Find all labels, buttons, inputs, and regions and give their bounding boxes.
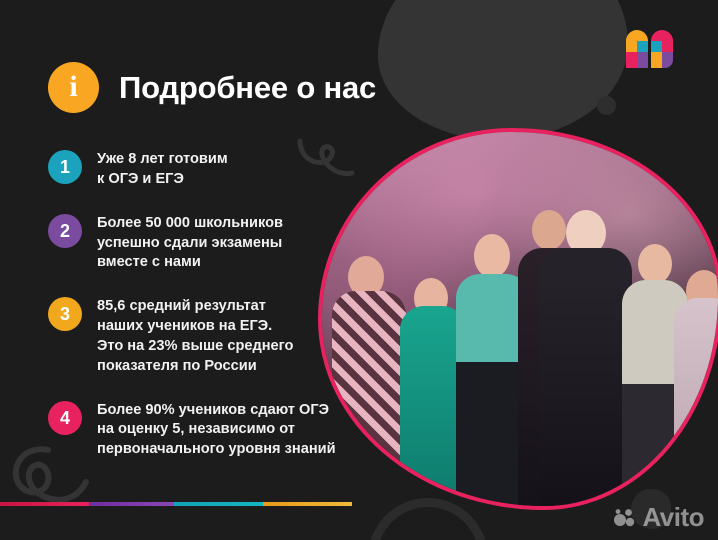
colorbar-segment (263, 502, 352, 506)
accent-colorbar (0, 502, 352, 506)
list-item-label: Более 50 000 школьников успешно сдали эк… (97, 212, 283, 274)
list-item-number-badge: 2 (48, 214, 82, 248)
colorbar-segment (89, 502, 173, 506)
person-silhouette (674, 256, 718, 506)
list-item-label: 85,6 средний результат наших учеников на… (97, 295, 293, 376)
background-dot-top-right (597, 96, 616, 115)
person-silhouette (540, 206, 632, 506)
list-item-number-badge: 4 (48, 401, 82, 435)
slide-header: i Подробнее о нас (48, 62, 376, 113)
avito-watermark: Avito (614, 504, 704, 530)
list-item-label: Уже 8 лет готовим к ОГЭ и ЕГЭ (97, 148, 228, 190)
benefits-list: 1 Уже 8 лет готовим к ОГЭ и ЕГЭ 2 Более … (48, 148, 358, 460)
avito-wordmark: Avito (642, 504, 704, 530)
list-item: 2 Более 50 000 школьников успешно сдали … (48, 212, 358, 274)
list-item-number-badge: 3 (48, 297, 82, 331)
slide-canvas: i Подробнее о нас 1 Уже 8 лет готовим к … (0, 0, 718, 540)
info-icon-glyph: i (69, 72, 77, 102)
team-group-photo (318, 128, 718, 510)
colorbar-segment (0, 502, 89, 506)
list-item-number-badge: 1 (48, 150, 82, 184)
person-silhouette (332, 256, 406, 506)
list-item: 3 85,6 средний результат наших учеников … (48, 295, 358, 376)
avito-dots-icon (614, 508, 636, 527)
info-icon: i (48, 62, 99, 113)
colorbar-segment (174, 502, 263, 506)
brand-logo (626, 29, 674, 71)
team-photo-container (318, 128, 718, 510)
background-blob-top (378, 0, 628, 140)
list-item: 4 Более 90% учеников сдают ОГЭ на оценку… (48, 399, 358, 461)
list-item: 1 Уже 8 лет готовим к ОГЭ и ЕГЭ (48, 148, 358, 190)
list-item-label: Более 90% учеников сдают ОГЭ на оценку 5… (97, 399, 336, 461)
page-title: Подробнее о нас (119, 70, 376, 106)
